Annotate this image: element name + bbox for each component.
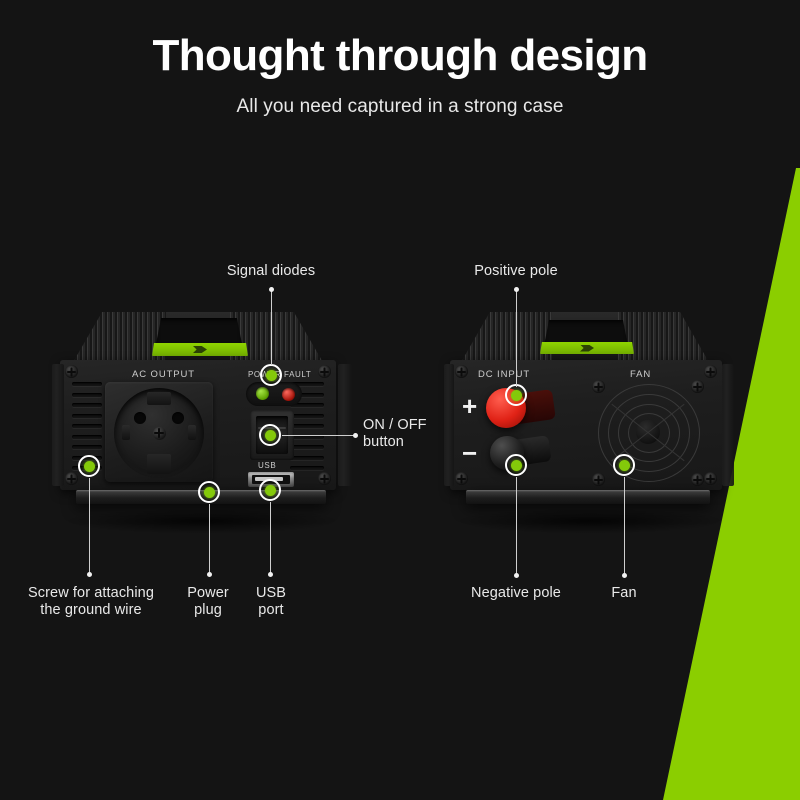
leader-fan bbox=[624, 477, 625, 575]
marker-dot-icon bbox=[266, 370, 277, 381]
screw-r-top-left bbox=[455, 365, 468, 378]
label-dc-input: DC INPUT bbox=[478, 369, 530, 380]
marker-usb-port[interactable] bbox=[259, 479, 281, 501]
marker-signal-diodes[interactable] bbox=[260, 364, 282, 386]
leader-dot-signal-diodes bbox=[269, 287, 274, 292]
marker-ground-screw[interactable] bbox=[78, 455, 100, 477]
left-front-panel: AC OUTPUT POWER FAULT bbox=[60, 360, 336, 490]
ac-socket-pin-left bbox=[134, 412, 146, 424]
device-right-rear: DC INPUT FAN + − bbox=[444, 312, 734, 542]
right-fins-a bbox=[460, 312, 552, 364]
fan-screw-bl bbox=[592, 473, 605, 486]
right-side-wall bbox=[338, 364, 352, 486]
fan-screw-br bbox=[691, 473, 704, 486]
fan-assembly bbox=[596, 384, 700, 482]
marker-dot-icon bbox=[619, 460, 630, 471]
leader-dot-usb-port bbox=[268, 572, 273, 577]
infographic-canvas: Thought through design All you need capt… bbox=[0, 0, 800, 800]
screw-r-top-right bbox=[704, 365, 717, 378]
leader-power-plug bbox=[209, 504, 210, 574]
leader-dot-on-off bbox=[353, 433, 358, 438]
fan-screw-tl bbox=[592, 380, 605, 393]
ac-socket-housing bbox=[105, 382, 213, 482]
leader-positive-pole bbox=[516, 289, 517, 387]
marker-dot-icon bbox=[265, 430, 276, 441]
marker-dot-icon bbox=[84, 461, 95, 472]
right-rear-panel: DC INPUT FAN + − bbox=[450, 360, 722, 490]
callout-power-plug: Power plug bbox=[177, 585, 239, 619]
callout-signal-diodes: Signal diodes bbox=[196, 263, 346, 280]
ac-socket-tab-bottom bbox=[147, 454, 171, 474]
screw-bottom-right bbox=[318, 472, 331, 485]
marker-dot-icon bbox=[511, 390, 522, 401]
marker-on-off-button[interactable] bbox=[259, 424, 281, 446]
marker-dot-icon bbox=[511, 460, 522, 471]
callout-negative-pole: Negative pole bbox=[452, 585, 580, 602]
device-left-front: AC OUTPUT POWER FAULT bbox=[52, 312, 352, 542]
left-side-wall bbox=[52, 364, 64, 486]
leader-dot-positive-pole bbox=[514, 287, 519, 292]
left-device-shadow bbox=[62, 508, 342, 534]
marker-dot-icon bbox=[265, 485, 276, 496]
leader-dot-negative-pole bbox=[514, 573, 519, 578]
right-device-shadow bbox=[454, 508, 726, 534]
callout-on-off-button: ON / OFF button bbox=[363, 417, 453, 451]
brand-logo-icon-right bbox=[580, 345, 594, 352]
brand-logo-strip-right bbox=[540, 342, 634, 354]
leader-negative-pole bbox=[516, 477, 517, 575]
ac-socket-clip-left bbox=[122, 425, 130, 440]
callout-positive-pole: Positive pole bbox=[441, 263, 591, 280]
leader-dot-fan bbox=[622, 573, 627, 578]
led-fault-red bbox=[282, 388, 295, 401]
callout-ground-screw: Screw for attaching the ground wire bbox=[8, 585, 174, 619]
right-device-base bbox=[466, 490, 710, 504]
marker-positive-pole[interactable] bbox=[505, 384, 527, 406]
label-fan: FAN bbox=[630, 369, 651, 380]
page-title: Thought through design bbox=[0, 34, 800, 78]
right-dev-side-wall-r bbox=[722, 364, 734, 486]
ac-socket-tab-top bbox=[147, 392, 171, 405]
screw-top-right bbox=[318, 365, 331, 378]
label-usb: USB bbox=[258, 461, 276, 470]
marker-dot-icon bbox=[204, 487, 215, 498]
negative-sign: − bbox=[462, 440, 477, 466]
leader-dot-power-plug bbox=[207, 572, 212, 577]
leader-signal-diodes bbox=[271, 289, 272, 365]
callout-fan: Fan bbox=[594, 585, 654, 602]
left-fins-b bbox=[230, 312, 324, 364]
led-power-green bbox=[256, 387, 269, 400]
brand-logo-strip bbox=[152, 343, 248, 356]
ac-socket-clip-right bbox=[188, 425, 196, 440]
marker-power-plug[interactable] bbox=[198, 481, 220, 503]
leader-ground-screw bbox=[89, 478, 90, 574]
leader-on-off bbox=[282, 435, 355, 436]
fan-screw-tr bbox=[691, 380, 704, 393]
leader-dot-ground-screw bbox=[87, 572, 92, 577]
screw-r-bottom-right bbox=[704, 472, 717, 485]
marker-fan[interactable] bbox=[613, 454, 635, 476]
label-ac-output: AC OUTPUT bbox=[132, 369, 195, 380]
screw-bottom-left bbox=[65, 472, 78, 485]
screw-top-left bbox=[65, 365, 78, 378]
left-fins-a bbox=[72, 312, 166, 364]
page-subtitle: All you need captured in a strong case bbox=[0, 96, 800, 118]
screw-r-bottom-left bbox=[455, 472, 468, 485]
positive-sign: + bbox=[462, 393, 477, 419]
leader-usb-port bbox=[270, 502, 271, 574]
ac-socket-center-screw bbox=[153, 427, 166, 440]
ac-socket-face bbox=[114, 388, 204, 478]
brand-logo-icon bbox=[193, 346, 207, 353]
marker-negative-pole[interactable] bbox=[505, 454, 527, 476]
callout-usb-port: USB port bbox=[246, 585, 296, 619]
ac-socket-pin-right bbox=[172, 412, 184, 424]
left-top-recess bbox=[156, 318, 242, 344]
right-fins-b bbox=[618, 312, 710, 364]
